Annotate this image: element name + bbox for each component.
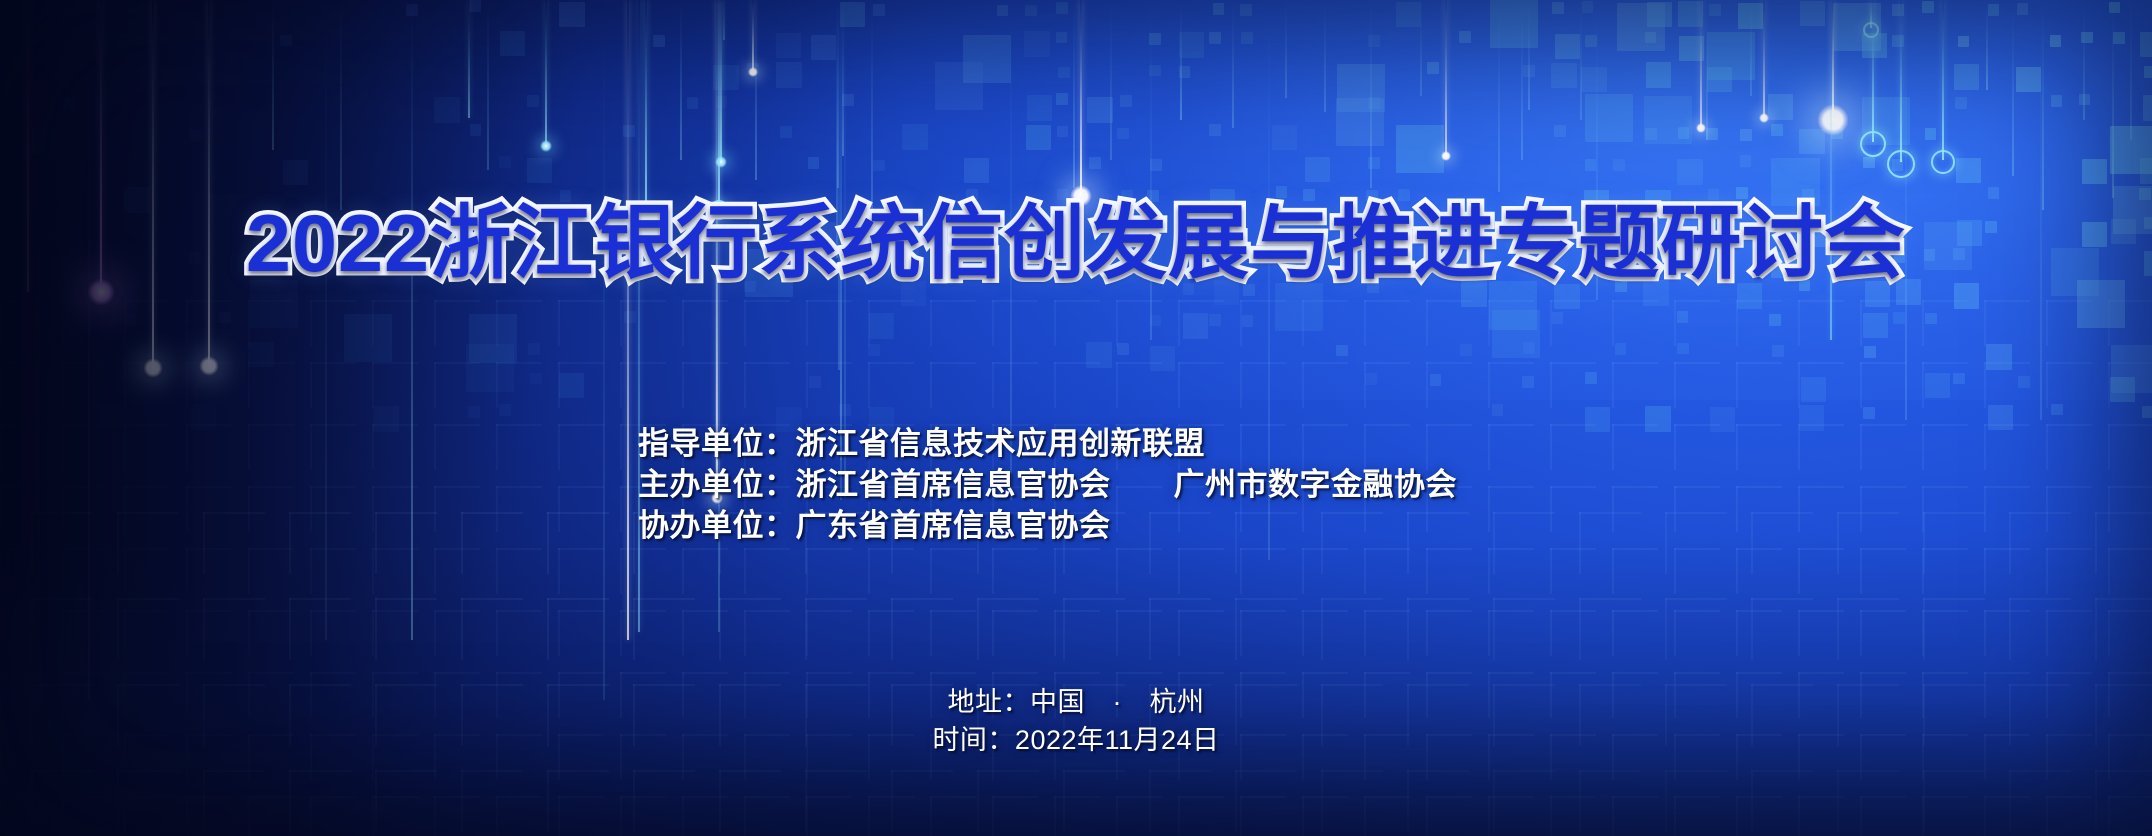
venue-date-line: 时间：2022年11月24日 — [0, 721, 2152, 759]
event-banner: 2022浙江银行系统信创发展与推进专题研讨会 指导单位：浙江省信息技术应用创新联… — [0, 0, 2152, 836]
venue-address-line: 地址：中国 · 杭州 — [0, 683, 2152, 721]
organization-line-guiding: 指导单位：浙江省信息技术应用创新联盟 — [638, 423, 1457, 464]
organization-line-hosting: 主办单位：浙江省首席信息官协会 广州市数字金融协会 — [638, 464, 1457, 505]
organization-line-cohosting: 协办单位：广东省首席信息官协会 — [638, 505, 1457, 546]
organizations-block: 指导单位：浙江省信息技术应用创新联盟 主办单位：浙江省首席信息官协会 广州市数字… — [638, 423, 1457, 546]
venue-block: 地址：中国 · 杭州 时间：2022年11月24日 — [0, 683, 2152, 759]
